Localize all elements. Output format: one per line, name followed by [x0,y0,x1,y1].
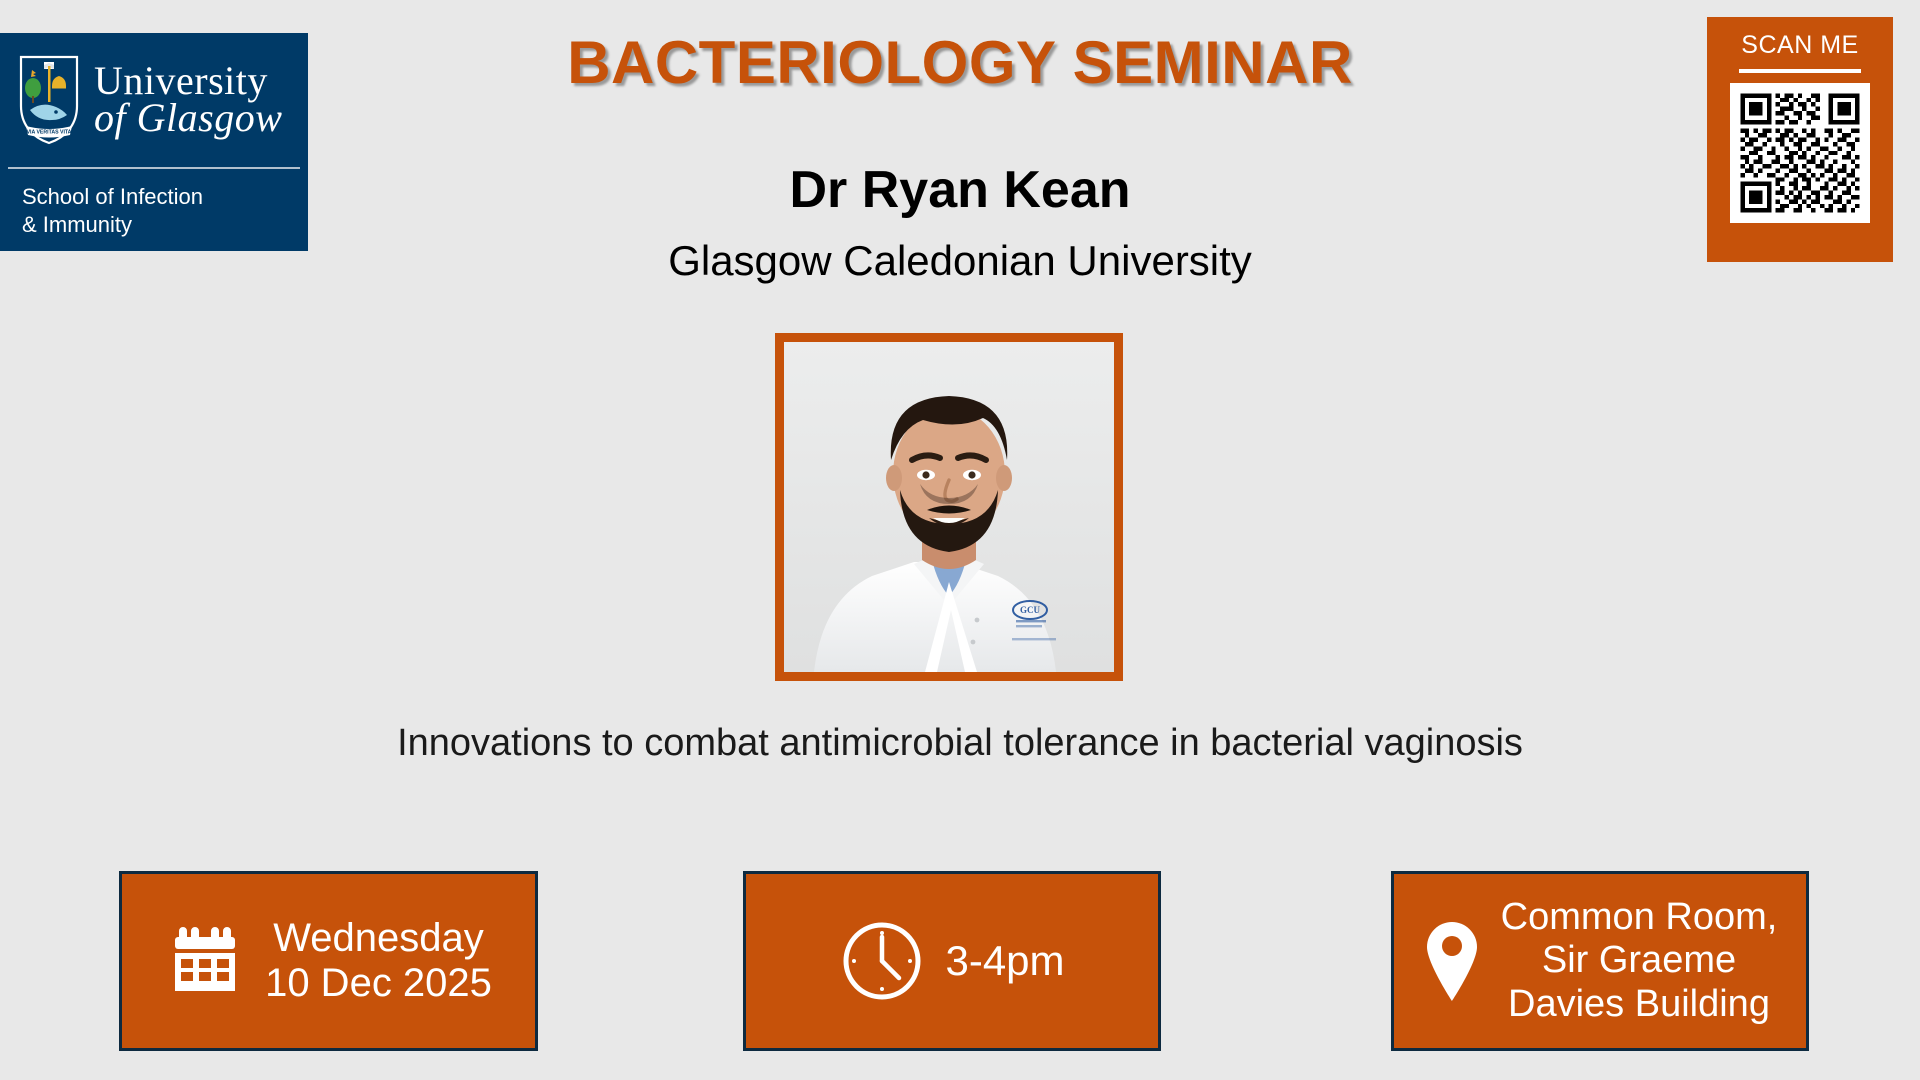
speaker-affiliation: Glasgow Caledonian University [0,237,1920,285]
location-text: Common Room, Sir Graeme Davies Building [1501,896,1778,1026]
time-line-1: 3-4pm [945,937,1064,984]
date-text: Wednesday 10 Dec 2025 [265,916,492,1006]
info-box-date: Wednesday 10 Dec 2025 [119,871,538,1051]
talk-title: Innovations to combat antimicrobial tole… [0,722,1920,765]
calendar-icon [165,921,245,1001]
location-line-1: Common Room, [1501,896,1778,939]
speaker-portrait: GCU [775,333,1123,681]
time-text: 3-4pm [945,937,1064,984]
date-line-2: 10 Dec 2025 [265,961,492,1006]
location-line-3: Davies Building [1501,983,1778,1026]
qr-panel[interactable]: SCAN ME [1707,17,1893,262]
svg-text:GCU: GCU [1020,605,1041,615]
page-title: BACTERIOLOGY SEMINAR [0,28,1920,97]
svg-text:VIA VERITAS VITA: VIA VERITAS VITA [27,130,72,136]
info-box-location: Common Room, Sir Graeme Davies Building [1391,871,1809,1051]
info-box-time: 3-4pm [743,871,1161,1051]
clock-icon [839,918,925,1004]
scan-me-label: SCAN ME [1741,31,1858,60]
speaker-name: Dr Ryan Kean [0,160,1920,220]
seminar-poster: VIA VERITAS VITA University of Glasgow S… [0,0,1920,1080]
location-line-2: Sir Graeme [1501,939,1778,982]
location-pin-icon [1423,919,1481,1003]
wordmark-line-2: of Glasgow [94,100,282,137]
date-line-1: Wednesday [265,916,492,961]
qr-code-icon[interactable] [1730,83,1870,223]
qr-divider [1739,69,1861,73]
